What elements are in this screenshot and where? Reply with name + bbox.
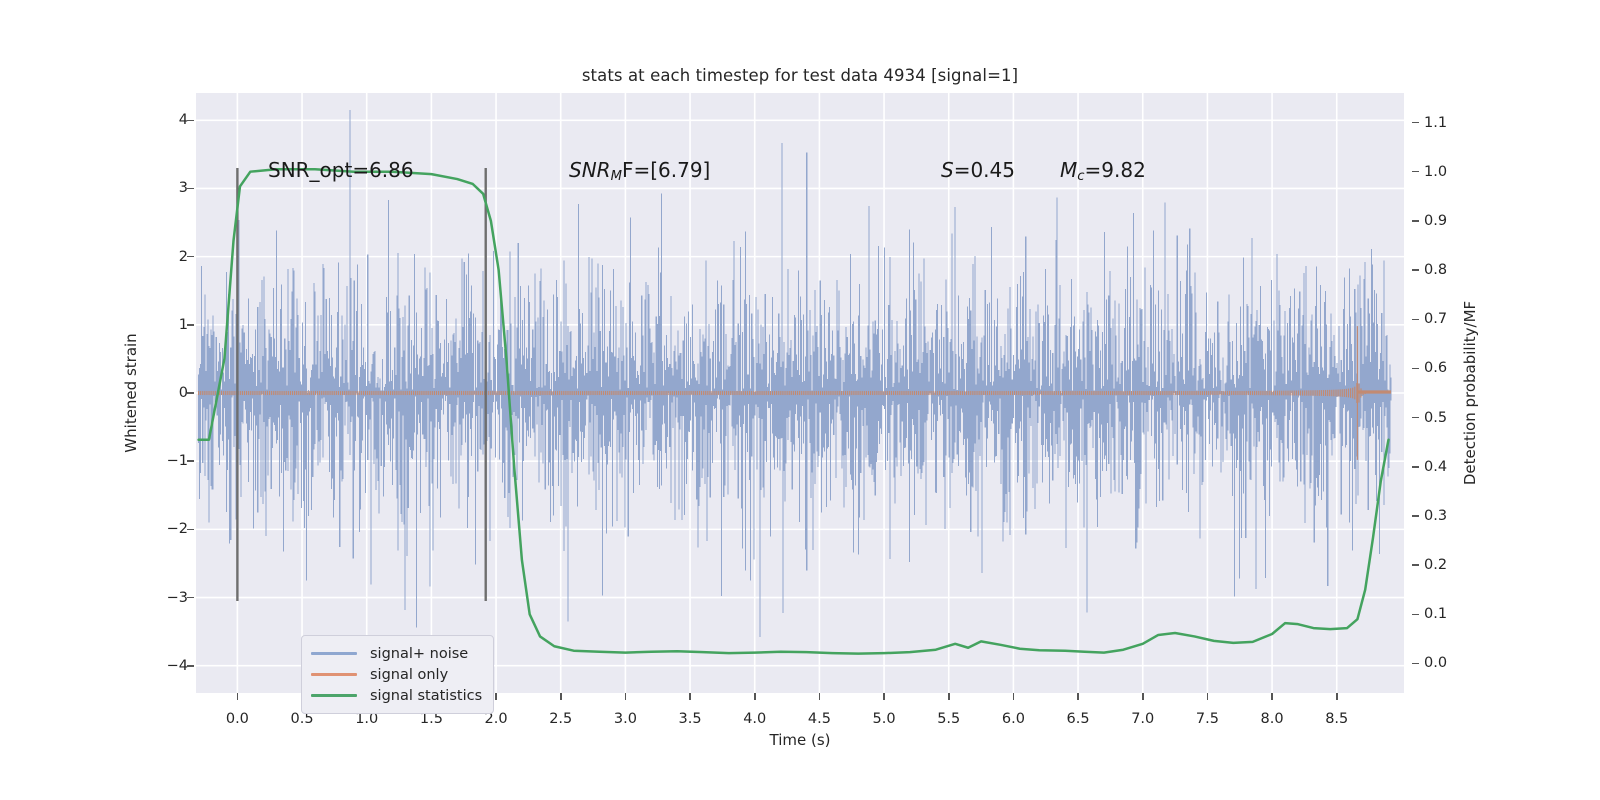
y-tick-mark-right — [1412, 614, 1419, 616]
y-tick-label-left: −1 — [167, 453, 188, 469]
y-tick-label-right: 0.3 — [1424, 508, 1447, 524]
y-axis-label-left: Whitened strain — [122, 333, 140, 452]
y-tick-label-left: −3 — [167, 590, 188, 606]
x-axis-label: Time (s) — [770, 731, 831, 749]
y-tick-mark-right — [1412, 269, 1419, 271]
y-tick-mark-right — [1412, 466, 1419, 468]
y-tick-mark-left — [187, 188, 194, 190]
y-tick-mark-right — [1412, 319, 1419, 321]
x-tick-mark — [1142, 693, 1144, 700]
x-tick-label: 2.5 — [549, 711, 572, 727]
legend-label: signal+ noise — [370, 646, 468, 662]
chart-title: stats at each timestep for test data 493… — [196, 66, 1404, 85]
x-tick-mark — [1013, 693, 1015, 700]
y-tick-mark-right — [1412, 368, 1419, 370]
x-tick-label: 8.0 — [1261, 711, 1284, 727]
y-tick-mark-left — [187, 120, 194, 122]
matplotlib-figure: stats at each timestep for test data 493… — [0, 0, 1600, 800]
x-tick-mark — [883, 693, 885, 700]
x-tick-mark — [495, 693, 497, 700]
annotation-symbol: SNR — [569, 158, 611, 182]
x-tick-label: 8.5 — [1325, 711, 1348, 727]
x-tick-label: 4.5 — [808, 711, 831, 727]
annotation-subscript: c — [1077, 169, 1084, 184]
plot-area — [196, 93, 1404, 693]
y-axis-label-right: Detection probability/MF — [1461, 301, 1479, 485]
y-tick-mark-left — [187, 392, 194, 394]
x-tick-label: 7.5 — [1196, 711, 1219, 727]
y-tick-label-right: 0.2 — [1424, 557, 1447, 573]
y-tick-label-right: 0.4 — [1424, 459, 1447, 475]
x-tick-label: 3.0 — [614, 711, 637, 727]
annotation-value: =9.82 — [1085, 158, 1146, 182]
x-tick-label: 6.5 — [1067, 711, 1090, 727]
x-tick-label: 0.0 — [226, 711, 249, 727]
legend-item[interactable]: signal+ noise — [311, 643, 482, 664]
y-tick-mark-left — [187, 256, 194, 258]
y-tick-label-left: −2 — [167, 521, 188, 537]
legend-color-swatch — [311, 694, 357, 696]
y-tick-mark-right — [1412, 515, 1419, 517]
annotation-value: F=[6.79] — [622, 158, 710, 182]
x-tick-mark — [689, 693, 691, 700]
annotation-snr-s: S=0.45 — [941, 158, 1015, 182]
x-tick-label: 3.5 — [679, 711, 702, 727]
y-tick-mark-left — [187, 324, 194, 326]
y-tick-mark-right — [1412, 171, 1419, 173]
y-tick-label-right: 0.6 — [1424, 360, 1447, 376]
y-tick-mark-right — [1412, 220, 1419, 222]
y-tick-label-right: 0.0 — [1424, 655, 1447, 671]
y-tick-mark-right — [1412, 663, 1419, 665]
y-tick-mark-right — [1412, 122, 1419, 124]
x-tick-label: 5.0 — [873, 711, 896, 727]
legend-item[interactable]: signal statistics — [311, 685, 482, 706]
legend-label: signal statistics — [370, 688, 482, 704]
y-tick-label-right: 0.8 — [1424, 262, 1447, 278]
x-tick-mark — [560, 693, 562, 700]
legend-color-swatch — [311, 652, 357, 654]
y-tick-label-right: 0.7 — [1424, 311, 1447, 327]
legend-color-swatch — [311, 673, 357, 675]
y-tick-mark-left — [187, 460, 194, 462]
x-tick-mark — [948, 693, 950, 700]
y-tick-mark-right — [1412, 417, 1419, 419]
x-tick-mark — [1336, 693, 1338, 700]
x-tick-mark — [1077, 693, 1079, 700]
y-tick-mark-left — [187, 529, 194, 531]
annotation-symbol: S — [941, 158, 954, 182]
x-tick-mark — [819, 693, 821, 700]
chart-canvas — [196, 93, 1404, 693]
annotation-symbol: M — [1060, 158, 1077, 182]
legend-item[interactable]: signal only — [311, 664, 482, 685]
x-tick-mark — [237, 693, 239, 700]
y-tick-label-right: 1.1 — [1424, 115, 1447, 131]
x-tick-mark — [625, 693, 627, 700]
x-tick-label: 4.0 — [743, 711, 766, 727]
y-tick-label-right: 0.1 — [1424, 606, 1447, 622]
x-tick-label: 5.5 — [937, 711, 960, 727]
y-tick-label-left: −4 — [167, 658, 188, 674]
annotation-chirp-mass: Mc=9.82 — [1060, 158, 1146, 184]
y-tick-label-right: 0.9 — [1424, 213, 1447, 229]
y-tick-label-right: 0.5 — [1424, 410, 1447, 426]
annotation-snr-opt: SNR_opt=6.86 — [268, 158, 414, 182]
y-tick-label-right: 1.0 — [1424, 164, 1447, 180]
y-tick-mark-left — [187, 597, 194, 599]
annotation-snr-mf: SNRMF=[6.79] — [569, 158, 710, 184]
legend: signal+ noisesignal onlysignal statistic… — [301, 635, 494, 714]
annotation-subscript: M — [611, 169, 622, 184]
legend-label: signal only — [370, 667, 448, 683]
annotation-value: =0.45 — [954, 158, 1015, 182]
x-tick-label: 7.0 — [1131, 711, 1154, 727]
x-tick-mark — [1207, 693, 1209, 700]
x-tick-mark — [1271, 693, 1273, 700]
y-tick-mark-left — [187, 665, 194, 667]
x-tick-mark — [754, 693, 756, 700]
y-tick-mark-right — [1412, 564, 1419, 566]
x-tick-label: 6.0 — [1002, 711, 1025, 727]
